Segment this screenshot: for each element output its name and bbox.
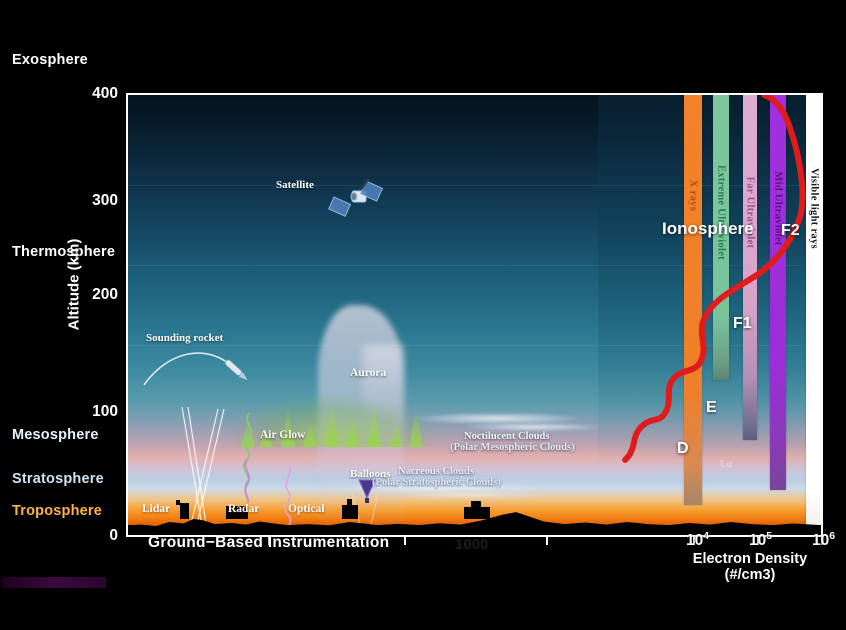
x-axis-faint-artifact: 1000 [455, 536, 488, 553]
layer-label-troposphere: Troposphere [12, 503, 102, 519]
x-tick-minor [404, 537, 406, 545]
x-tick-mantissa: 10 [749, 532, 766, 549]
x-tick-label-1e6: 106 [812, 530, 835, 550]
bottom-edge-artifact [2, 577, 106, 588]
ground-instrument-radar: Radar [228, 503, 259, 515]
plot-area: X rays Extreme Ultraviolet Far Ultraviol… [126, 93, 823, 537]
x-tick-label-1e4: 104 [686, 530, 709, 550]
layer-label-exosphere: Exosphere [12, 52, 88, 68]
layer-label-mesosphere: Mesosphere [12, 427, 99, 443]
x-axis-title-line1: Electron Density [650, 551, 846, 567]
diagram-canvas: Exosphere Thermosphere Mesosphere Strato… [0, 0, 846, 630]
x-tick-mantissa: 10 [812, 532, 829, 549]
layer-label-thermosphere: Thermosphere [12, 244, 115, 260]
ground-instrumentation-title: Ground−Based Instrumentation [148, 534, 389, 552]
ground-instrument-optical: Optical [288, 503, 324, 515]
x-tick-exponent: 6 [829, 530, 835, 542]
layer-label-stratosphere: Stratosphere [12, 471, 104, 487]
y-tick-label-300: 300 [66, 192, 118, 210]
x-tick-minor [546, 537, 548, 545]
x-tick-label-1e5: 105 [749, 530, 772, 550]
x-tick-exponent: 5 [766, 530, 772, 542]
x-axis-title-line2: (#/cm3) [650, 567, 846, 583]
x-tick-mantissa: 10 [686, 532, 703, 549]
y-tick-label-400: 400 [66, 85, 118, 103]
y-axis-title: Altitude (km) [66, 205, 83, 365]
electron-density-curve [128, 95, 821, 536]
y-tick-label-0: 0 [66, 527, 118, 545]
ground-instrument-lidar: Lidar [142, 503, 170, 515]
x-axis-title: Electron Density (#/cm3) [650, 551, 846, 583]
y-tick-label-100: 100 [66, 403, 118, 421]
x-tick-exponent: 4 [703, 530, 709, 542]
y-tick-label-200: 200 [66, 286, 118, 304]
